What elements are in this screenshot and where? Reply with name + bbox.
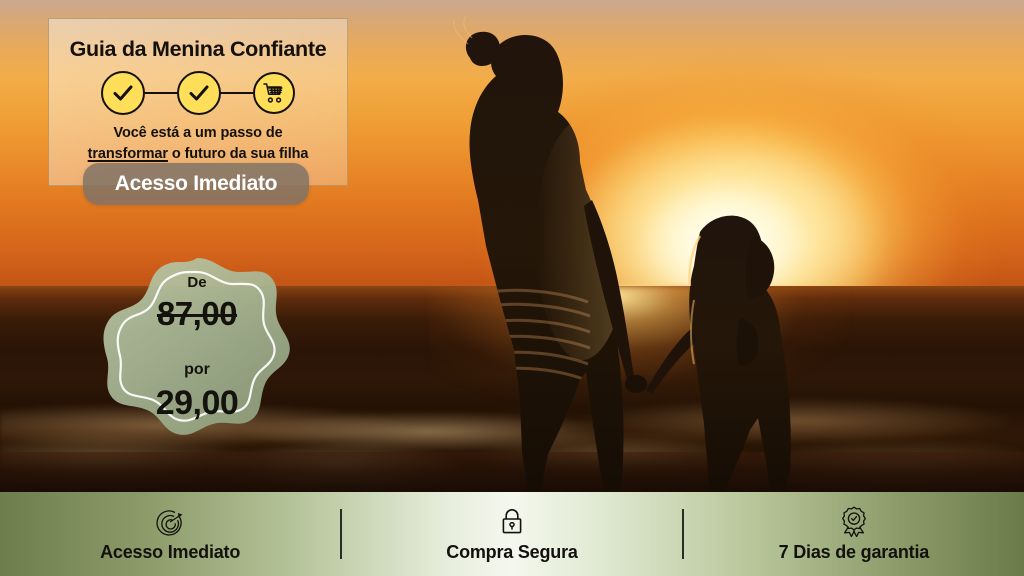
page-title: Guia da Menina Confiante (49, 37, 347, 62)
step-1-complete[interactable] (101, 71, 145, 115)
promo-card: Guia da Menina Confiante (48, 18, 348, 186)
step-connector-2 (220, 92, 254, 95)
shopping-cart-icon (262, 81, 286, 105)
award-ribbon-icon (837, 505, 871, 539)
trust-footer: Acesso Imediato Compra Segura (0, 492, 1024, 576)
new-price: 29,00 (156, 384, 239, 423)
check-icon (186, 80, 212, 106)
old-price: 87,00 (157, 295, 237, 333)
price-for-label: por (184, 361, 210, 379)
footer-label: Acesso Imediato (100, 542, 240, 563)
check-icon (110, 80, 136, 106)
price-from-label: De (187, 274, 206, 291)
subtitle-line-1: Você está a um passo de (49, 123, 347, 144)
footer-label: 7 Dias de garantia (779, 542, 929, 563)
acesso-imediato-button[interactable]: Acesso Imediato (83, 163, 309, 205)
target-arrow-icon (154, 505, 186, 539)
step-connector-1 (144, 92, 178, 95)
footer-item-acesso-imediato: Acesso Imediato (0, 492, 340, 576)
padlock-icon (498, 505, 526, 539)
subtitle-line-2: transformar o futuro da sua filha (49, 144, 347, 165)
step-3-current[interactable] (253, 72, 295, 114)
price-text-group: De 87,00 por 29,00 (103, 256, 291, 438)
card-subtitle: Você está a um passo de transformar o fu… (49, 123, 347, 164)
subtitle-emphasis: transformar (88, 146, 168, 162)
footer-label: Compra Segura (446, 542, 577, 563)
step-2-complete[interactable] (177, 71, 221, 115)
subtitle-line-2-rest: o futuro da sua filha (168, 146, 308, 162)
checkout-steps (49, 69, 347, 117)
price-badge: De 87,00 por 29,00 (103, 256, 291, 438)
footer-item-garantia: 7 Dias de garantia (684, 492, 1024, 576)
promo-banner: Guia da Menina Confiante (0, 0, 1024, 576)
footer-item-compra-segura: Compra Segura (342, 492, 682, 576)
